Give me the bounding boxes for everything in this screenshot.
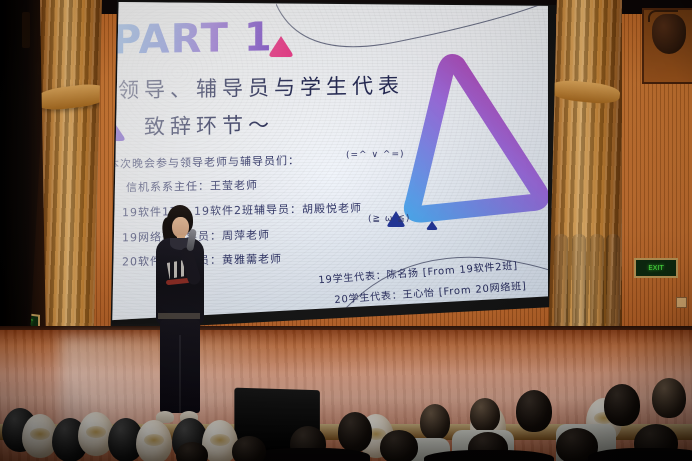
screen-glare <box>96 2 337 322</box>
curtain-left <box>40 0 102 352</box>
kaomoji-happy: (≧ ω ≦) <box>368 214 410 225</box>
exit-sign-right: EXIT <box>634 258 678 278</box>
auditorium-photo: EXIT EXIT <box>0 0 692 461</box>
wall-outlet <box>676 297 687 308</box>
curtain-hook <box>22 12 30 48</box>
kaomoji-cat: (=^ ∨ ^=) <box>346 149 405 160</box>
curtain-tieback-left <box>35 82 109 113</box>
curtain-tieback-right <box>549 78 621 105</box>
exit-sign-right-text: EXIT <box>648 265 664 272</box>
audience-shadow-overlay <box>0 372 692 461</box>
wall-speaker <box>652 14 686 54</box>
large-outline-triangle-decoration <box>381 40 548 229</box>
curtain-right <box>548 0 622 352</box>
navy-small-triangle-decoration <box>426 220 438 231</box>
